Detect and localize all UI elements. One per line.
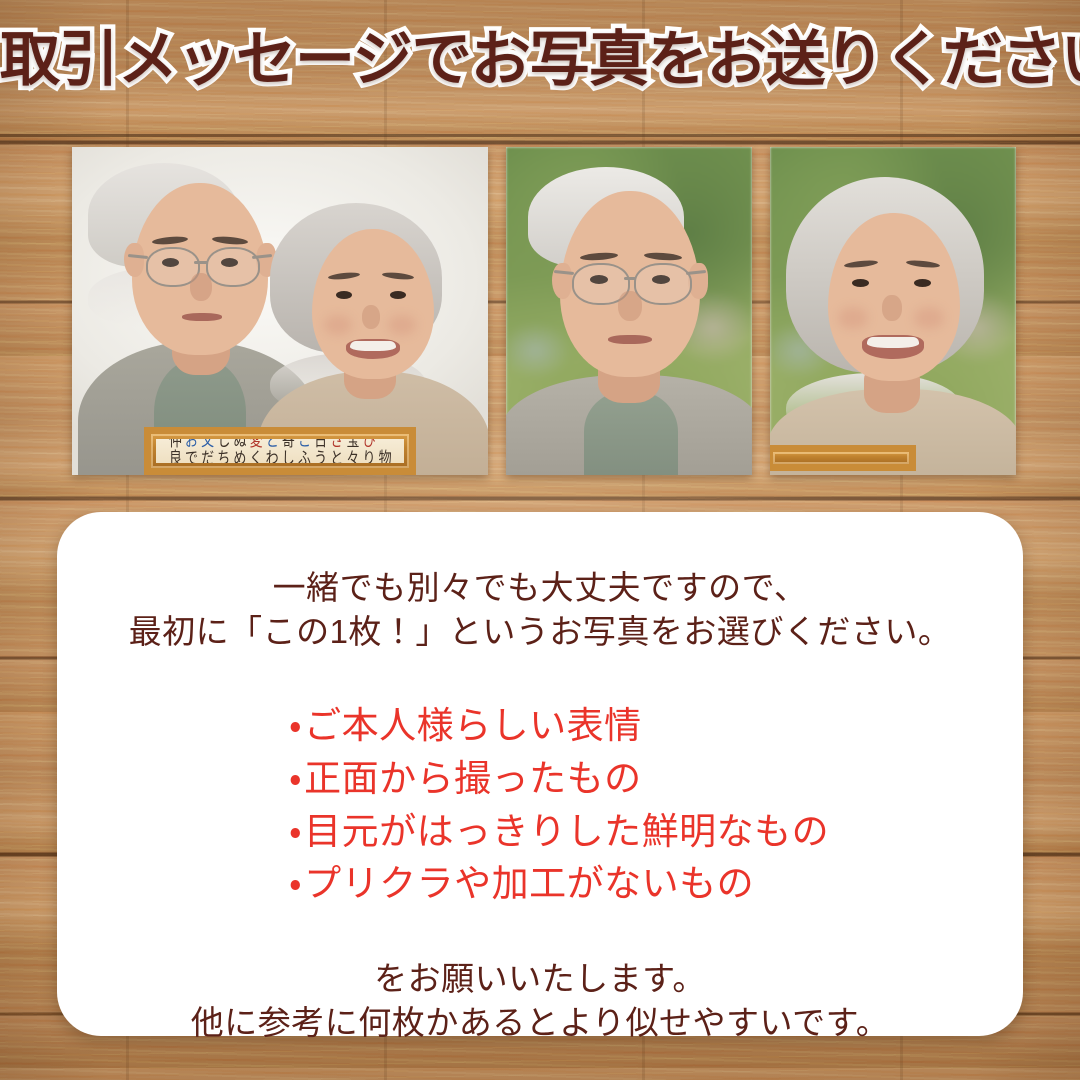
grandmother-cheek-left (838, 307, 868, 329)
photo-grandfather (506, 147, 752, 475)
closing-line-1: をお願いいたします。 (93, 957, 987, 1001)
man-nose (190, 273, 212, 301)
bullet-dot-icon: ・ (289, 758, 302, 799)
calligraphy-text: 仲 お 父 し ぬ 変 と 寄 こ 日 さ 宝 ひ 良 で だ ち め く わ … (169, 439, 391, 463)
bullet-dot-icon: ・ (289, 863, 302, 904)
photo-couple: 仲 お 父 し ぬ 変 と 寄 こ 日 さ 宝 ひ 良 で だ ち め く わ … (72, 147, 488, 475)
woman-eye-left (336, 291, 352, 299)
woman-eye-right (390, 291, 406, 299)
woman-cheek-right (388, 315, 416, 335)
list-item-label: 正面から撮ったもの (304, 758, 642, 799)
man-mouth (182, 313, 222, 321)
man-glasses-right-lens (206, 247, 260, 287)
grandfather-figure (528, 167, 734, 475)
man-glasses-bridge (194, 261, 208, 264)
grandfather-mouth (608, 335, 652, 344)
list-item: ・目元がはっきりした鮮明なもの (289, 806, 987, 859)
grandfather-collar (584, 391, 678, 475)
grandmother-figure (786, 177, 1002, 475)
poster-canvas: 取引メッセージでお写真をお送りください (0, 0, 1080, 1080)
closing-paragraph: をお願いいたします。 他に参考に何枚かあるとより似せやすいです。 (93, 957, 987, 1045)
grandmother-teeth (867, 337, 919, 348)
calligraphy-frame-edge (770, 445, 916, 471)
grandmother-cheek-right (914, 307, 944, 329)
bullet-dot-icon: ・ (289, 705, 302, 746)
page-title: 取引メッセージでお写真をお送りください (0, 26, 1080, 93)
list-item: ・正面から撮ったもの (289, 753, 987, 806)
woman-teeth (350, 341, 396, 351)
grandfather-glasses-right-lens (634, 263, 692, 305)
list-item-label: 目元がはっきりした鮮明なもの (304, 811, 829, 852)
photo-strip: 仲 お 父 し ぬ 変 と 寄 こ 日 さ 宝 ひ 良 で だ ち め く わ … (72, 147, 1018, 475)
grandmother-eye-left (852, 279, 869, 287)
closing-line-2: 他に参考に何枚かあるとより似せやすいです。 (93, 1001, 987, 1045)
woman-cheek-left (324, 315, 352, 335)
calligraphy-frame-inner: 仲 お 父 し ぬ 変 と 寄 こ 日 さ 宝 ひ 良 で だ ち め く わ … (156, 439, 404, 463)
requirements-list: ・ご本人様らしい表情 ・正面から撮ったもの ・目元がはっきりした鮮明なもの ・プ… (93, 700, 987, 910)
bullet-dot-icon: ・ (289, 811, 302, 852)
grandmother-nose (882, 295, 902, 321)
calligraphy-frame: 仲 お 父 し ぬ 変 と 寄 こ 日 さ 宝 ひ 良 で だ ち め く わ … (144, 427, 416, 475)
lead-line-1: 一緒でも別々でも大丈夫ですので、 (93, 566, 987, 610)
grandmother-eye-right (914, 279, 931, 287)
list-item-label: ご本人様らしい表情 (304, 705, 642, 746)
lead-paragraph: 一緒でも別々でも大丈夫ですので、 最初に「この1枚！」というお写真をお選びくださ… (93, 566, 987, 654)
photo-grandmother (770, 147, 1016, 475)
woman-nose (362, 305, 380, 329)
grandfather-nose (618, 291, 642, 321)
grandfather-glasses-bridge (624, 277, 636, 280)
man-ear-left (124, 243, 144, 277)
list-item: ・ご本人様らしい表情 (289, 700, 987, 753)
grandfather-ear-left (552, 263, 572, 299)
lead-line-2: 最初に「この1枚！」というお写真をお選びください。 (93, 610, 987, 654)
instruction-card: 一緒でも別々でも大丈夫ですので、 最初に「この1枚！」というお写真をお選びくださ… (57, 512, 1023, 1036)
list-item: ・プリクラや加工がないもの (289, 858, 987, 911)
list-item-label: プリクラや加工がないもの (304, 863, 754, 904)
